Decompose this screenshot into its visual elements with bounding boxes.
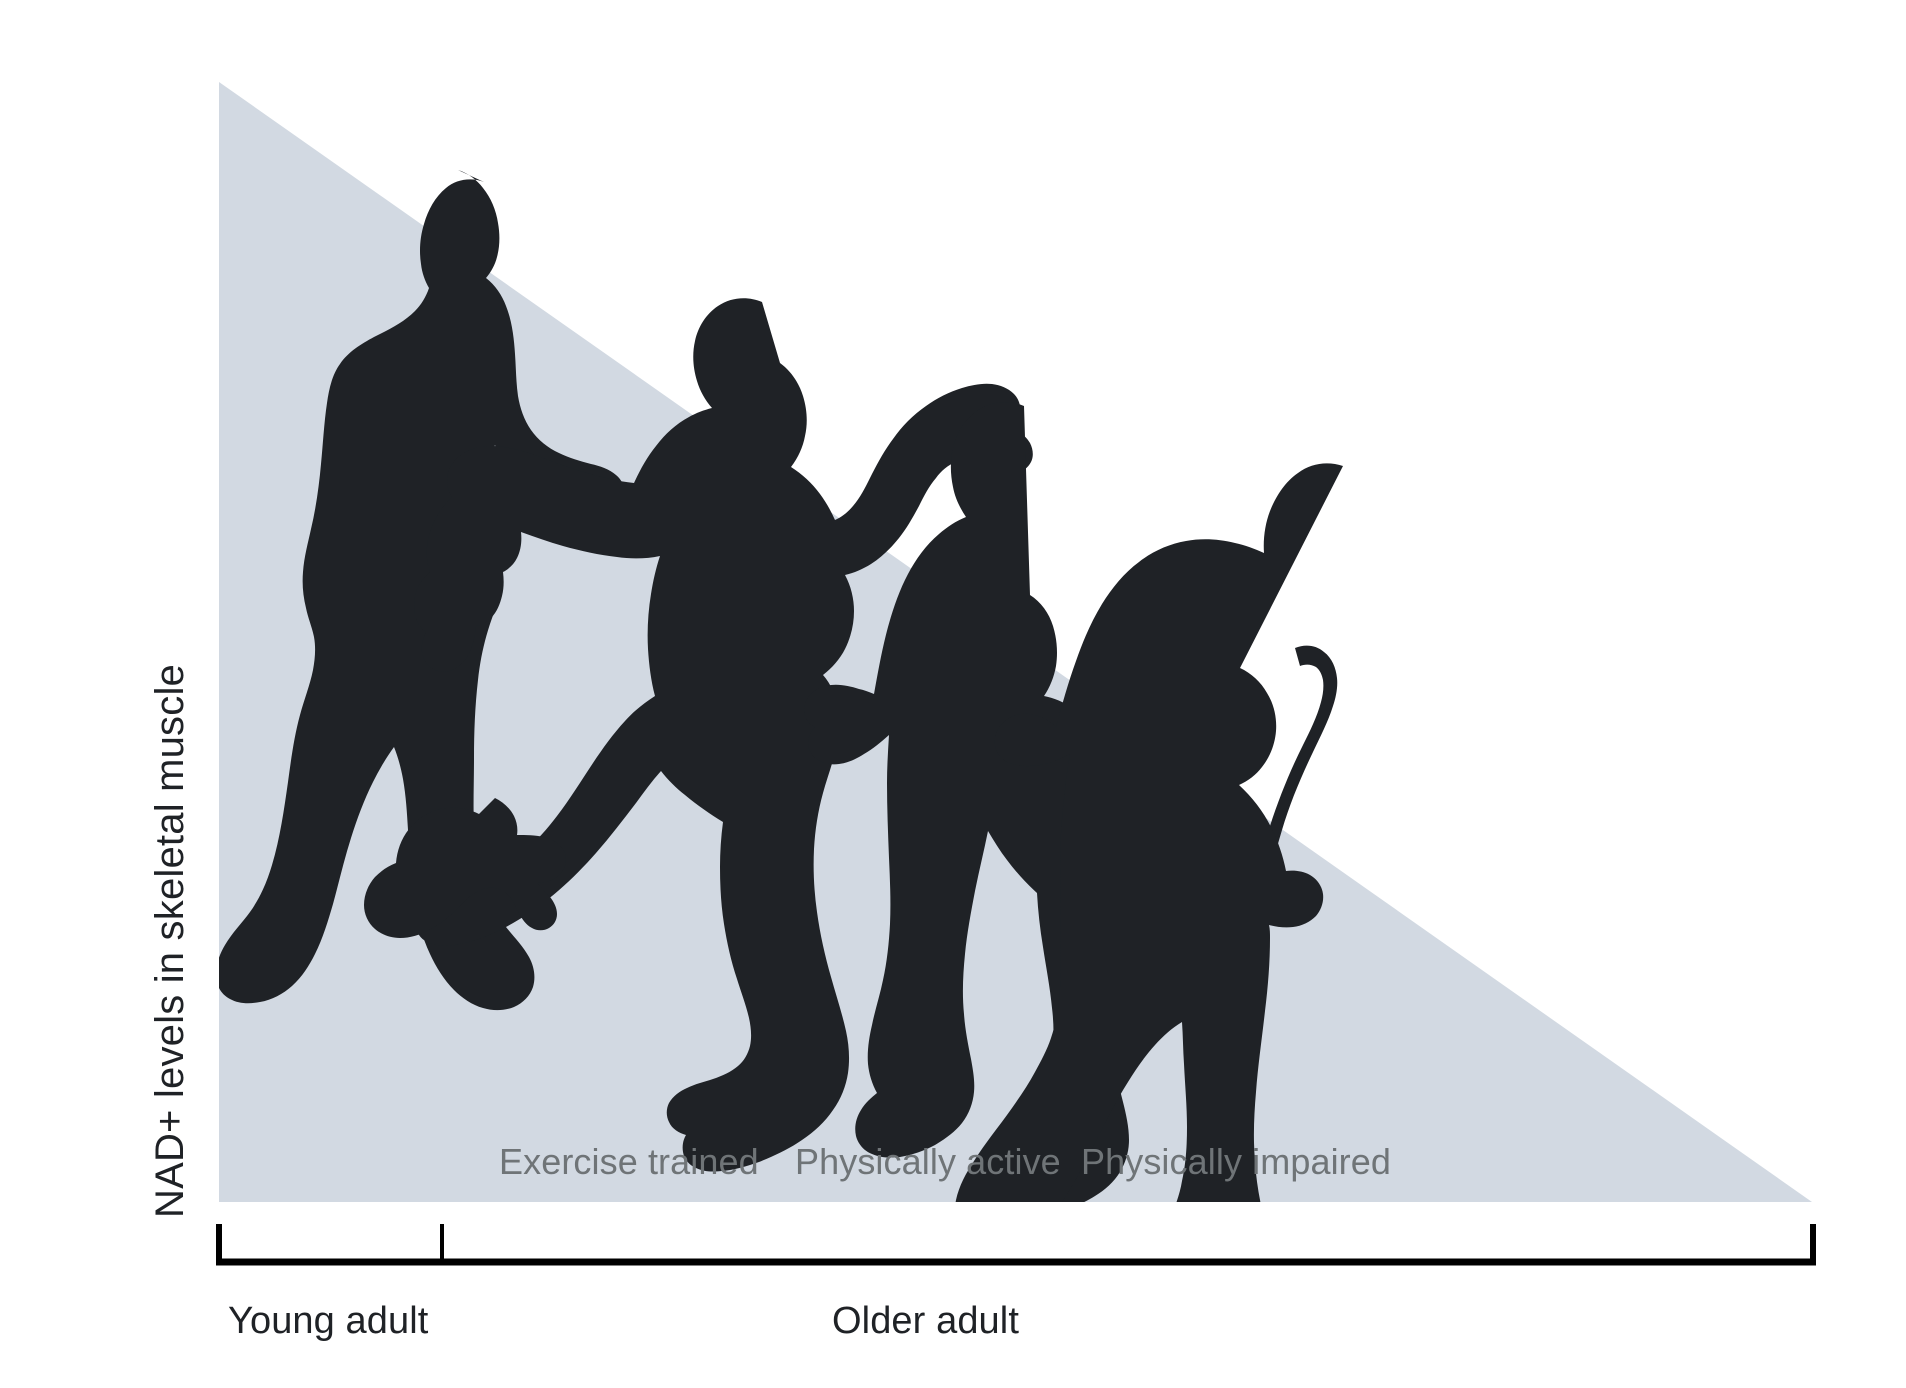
age-group-label-older-adult: Older adult <box>832 1300 1019 1343</box>
category-label-physically-impaired: Physically impaired <box>1081 1141 1391 1183</box>
category-label-exercise-trained: Exercise trained <box>499 1141 759 1183</box>
age-group-label-young-adult: Young adult <box>228 1300 428 1343</box>
category-label-physically-active: Physically active <box>795 1141 1061 1183</box>
x-axis-bracket <box>211 1218 1821 1270</box>
plot-area <box>219 82 1812 1202</box>
figure-root: NAD+ levels in skeletal muscle <box>0 0 1906 1388</box>
y-axis-label: NAD+ levels in skeletal muscle <box>140 218 200 1218</box>
